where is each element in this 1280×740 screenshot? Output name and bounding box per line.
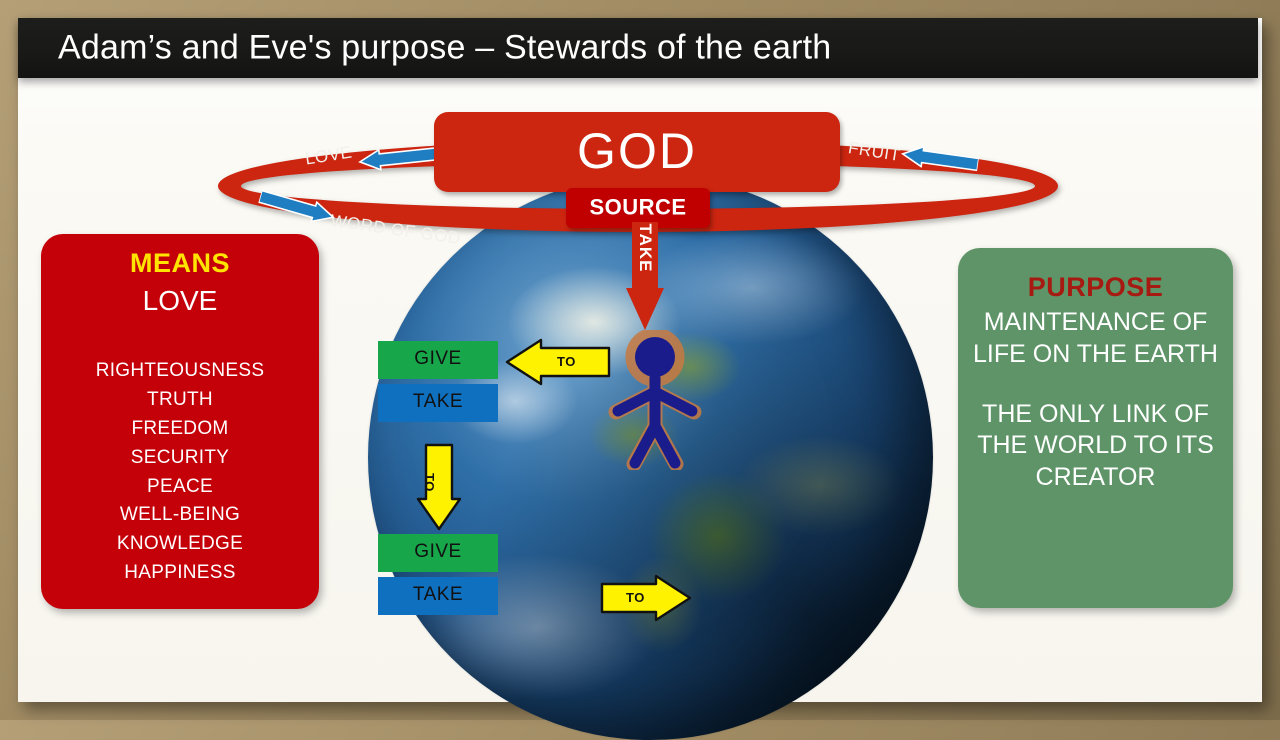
means-item: SECURITY	[41, 444, 319, 473]
take-bar: TAKE	[378, 577, 498, 615]
give-bar: GIVE	[378, 341, 498, 379]
give-label: GIVE	[378, 541, 498, 563]
purpose-line: MAINTENANCE OF	[968, 307, 1223, 339]
take-down-arrow-icon: TAKE	[626, 222, 664, 330]
means-subheading: LOVE	[41, 285, 319, 317]
purpose-line: LIFE ON THE EARTH	[968, 339, 1223, 371]
means-item: PEACE	[41, 473, 319, 502]
yellow-arrow-label: TO	[422, 473, 437, 492]
purpose-body: MAINTENANCE OF LIFE ON THE EARTH THE ONL…	[958, 307, 1233, 494]
purpose-line: THE WORLD TO ITS	[968, 430, 1223, 462]
means-item: HAPPINESS	[41, 559, 319, 588]
steward-figure-icon	[598, 330, 712, 470]
purpose-line: CREATOR	[968, 462, 1223, 494]
means-item: KNOWLEDGE	[41, 530, 319, 559]
take-label: TAKE	[378, 391, 498, 413]
give-label: GIVE	[378, 348, 498, 370]
slide: LOVE WORD OF GOD FRUIT GOD SOURCE TAKE	[0, 0, 1280, 720]
means-item: TRUTH	[41, 386, 319, 415]
god-label: GOD	[434, 122, 840, 180]
yellow-arrow-left-icon: TO	[505, 338, 611, 391]
page-title: Adam’s and Eve's purpose – Stewards of t…	[58, 29, 831, 68]
take-bar: TAKE	[378, 384, 498, 422]
give-bar: GIVE	[378, 534, 498, 572]
means-item: RIGHTEOUSNESS	[41, 357, 319, 386]
means-item: FREEDOM	[41, 415, 319, 444]
title-bar: Adam’s and Eve's purpose – Stewards of t…	[18, 18, 1258, 78]
flow-block-bottom: GIVE TAKE	[378, 534, 498, 615]
flow-block-top: GIVE TAKE	[378, 341, 498, 422]
means-heading: MEANS	[41, 248, 319, 279]
yellow-arrow-label: TO	[626, 590, 645, 605]
purpose-line: THE ONLY LINK OF	[968, 399, 1223, 431]
means-panel: MEANS LOVE RIGHTEOUSNESS TRUTH FREEDOM S…	[41, 234, 319, 609]
take-arrow-label: TAKE	[635, 215, 655, 281]
yellow-arrow-label: TO	[557, 354, 576, 369]
means-item: WELL-BEING	[41, 501, 319, 530]
god-box: GOD	[434, 112, 840, 192]
means-list: RIGHTEOUSNESS TRUTH FREEDOM SECURITY PEA…	[41, 357, 319, 588]
yellow-arrow-right-icon: TO	[600, 574, 692, 627]
purpose-panel: PURPOSE MAINTENANCE OF LIFE ON THE EARTH…	[958, 248, 1233, 608]
purpose-heading: PURPOSE	[958, 272, 1233, 303]
yellow-arrow-down-icon: TO	[416, 443, 462, 536]
take-label: TAKE	[378, 584, 498, 606]
purpose-spacer	[968, 371, 1223, 399]
